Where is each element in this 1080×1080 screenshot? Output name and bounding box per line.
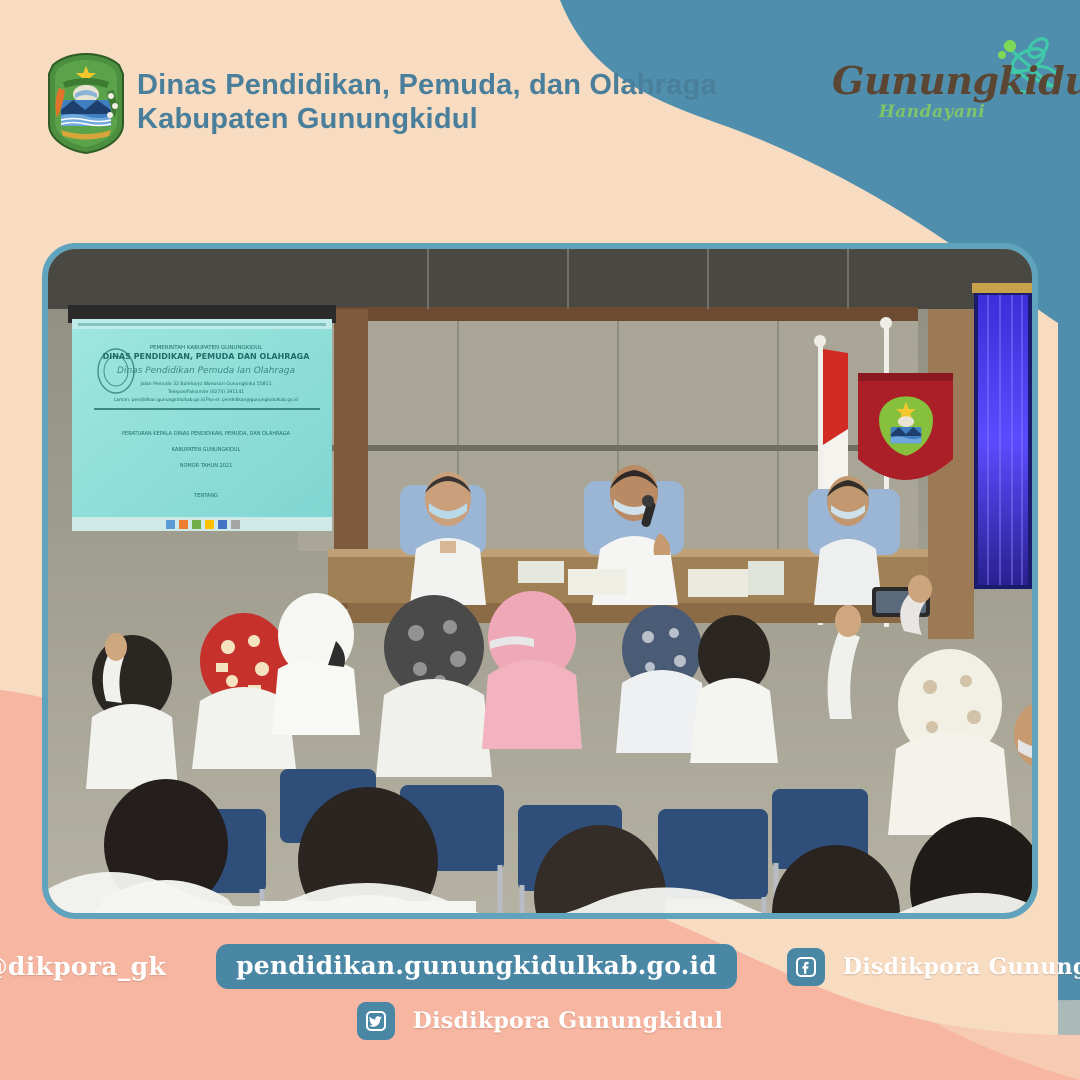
gunungkidul-regency-emblem — [45, 52, 127, 155]
svg-text:KABUPATEN GUNUNGKIDUL: KABUPATEN GUNUNGKIDUL — [172, 447, 241, 453]
instagram-handle[interactable]: @dikpora_gk — [0, 952, 166, 981]
page-title: Dinas Pendidikan, Pemuda, dan Olahraga K… — [137, 68, 757, 136]
brand-wordmark: Gunungkidul — [832, 58, 1032, 103]
facebook-page-name[interactable]: Disdikpora Gunungkidul — [843, 954, 1080, 980]
svg-text:DINAS PENDIDIKAN, PEMUDA DAN O: DINAS PENDIDIKAN, PEMUDA DAN OLAHRAGA — [103, 352, 311, 361]
meeting-room-photograph: PEMERINTAH KABUPATEN GUNUNGKIDUL DINAS P… — [42, 243, 1038, 919]
brand-tagline: Handayani — [842, 102, 1022, 122]
poster-canvas: Dinas Pendidikan, Pemuda, dan Olahraga K… — [0, 0, 1080, 1080]
gunungkidul-brand-logo: Gunungkidul Handayani — [832, 30, 1062, 140]
svg-text:Telepon/Faksimile (0274) 39114: Telepon/Faksimile (0274) 391141 — [167, 389, 244, 395]
social-footer: @dikpora_gk pendidikan.gunungkidulkab.go… — [0, 944, 1080, 1064]
facebook-icon[interactable] — [787, 948, 825, 986]
svg-text:Dinas Pendidikan Pemuda lan Ol: Dinas Pendidikan Pemuda lan Olahraga — [117, 366, 295, 376]
poster-header: Dinas Pendidikan, Pemuda, dan Olahraga K… — [0, 0, 1080, 175]
title-line-2: Kabupaten Gunungkidul — [137, 102, 757, 136]
svg-text:PEMERINTAH KABUPATEN GUNUNGKID: PEMERINTAH KABUPATEN GUNUNGKIDUL — [150, 345, 264, 351]
website-url-button[interactable]: pendidikan.gunungkidulkab.go.id — [216, 944, 737, 989]
twitter-icon[interactable] — [357, 1002, 395, 1040]
title-line-1: Dinas Pendidikan, Pemuda, dan Olahraga — [137, 68, 757, 102]
svg-text:Laman: pendidikan.gunungkidulk: Laman: pendidikan.gunungkidulkab.go.id P… — [114, 397, 298, 403]
svg-text:Jalan Pemuda 32 Baleharjo Wono: Jalan Pemuda 32 Baleharjo Wonosari Gunun… — [139, 381, 271, 387]
svg-text:PERATURAN KEPALA DINAS PENDIDI: PERATURAN KEPALA DINAS PENDIDIKAN, PEMUD… — [122, 431, 291, 437]
svg-text:NOMOR TAHUN 2021: NOMOR TAHUN 2021 — [180, 463, 233, 469]
svg-text:TENTANG: TENTANG — [193, 493, 218, 499]
twitter-handle[interactable]: Disdikpora Gunungkidul — [413, 1008, 723, 1034]
